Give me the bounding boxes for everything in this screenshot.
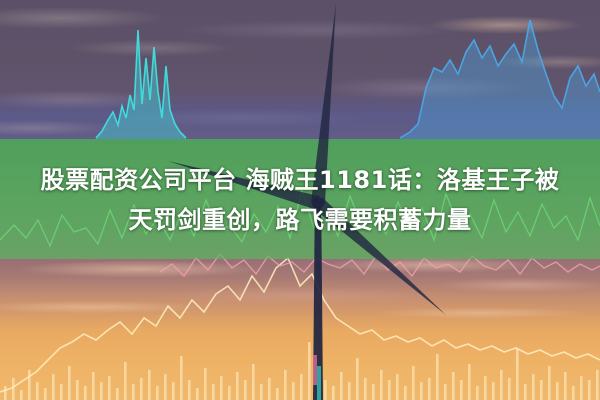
headline-line-2: 天罚剑重创，路飞需要积蓄力量 (0, 200, 600, 240)
headline-line-1: 股票配资公司平台 海贼王1181话：洛基王子被 (0, 160, 600, 200)
tower-accent-teal (317, 366, 321, 400)
tower-accent-pink (313, 355, 317, 385)
banner-image: 股票配资公司平台 海贼王1181话：洛基王子被 天罚剑重创，路飞需要积蓄力量 (0, 0, 600, 400)
headline-text: 股票配资公司平台 海贼王1181话：洛基王子被 天罚剑重创，路飞需要积蓄力量 (0, 160, 600, 240)
